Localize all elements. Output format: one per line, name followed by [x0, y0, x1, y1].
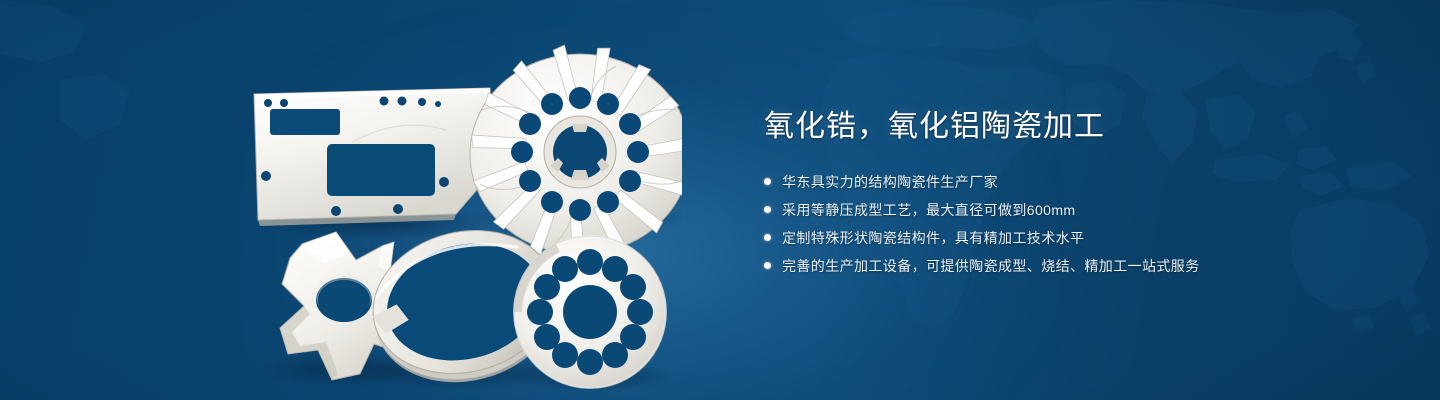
feature-bullet-item: 华东具实力的结构陶瓷件生产厂家: [764, 172, 1364, 192]
banner-copy: 氧化锆，氧化铝陶瓷加工 华东具实力的结构陶瓷件生产厂家 采用等静压成型工艺，最大…: [764, 108, 1364, 284]
bullet-dot-icon: [764, 234, 771, 241]
feature-bullet-item: 采用等静压成型工艺，最大直径可做到600mm: [764, 200, 1364, 220]
banner-headline: 氧化锆，氧化铝陶瓷加工: [764, 108, 1364, 146]
feature-bullet-text: 华东具实力的结构陶瓷件生产厂家: [782, 172, 998, 192]
feature-bullet-item: 定制特殊形状陶瓷结构件，具有精加工技术水平: [764, 228, 1364, 248]
feature-bullet-text: 定制特殊形状陶瓷结构件，具有精加工技术水平: [782, 228, 1084, 248]
bullet-dot-icon: [764, 262, 771, 269]
feature-bullet-item: 完善的生产加工设备，可提供陶瓷成型、烧结、精加工一站式服务: [764, 256, 1364, 276]
feature-bullet-list: 华东具实力的结构陶瓷件生产厂家 采用等静压成型工艺，最大直径可做到600mm 定…: [764, 172, 1364, 276]
bullet-dot-icon: [764, 206, 771, 213]
hero-banner: 氧化锆，氧化铝陶瓷加工 华东具实力的结构陶瓷件生产厂家 采用等静压成型工艺，最大…: [0, 0, 1440, 400]
bullet-dot-icon: [764, 178, 771, 185]
feature-bullet-text: 采用等静压成型工艺，最大直径可做到600mm: [782, 200, 1075, 220]
feature-bullet-text: 完善的生产加工设备，可提供陶瓷成型、烧结、精加工一站式服务: [782, 256, 1200, 276]
